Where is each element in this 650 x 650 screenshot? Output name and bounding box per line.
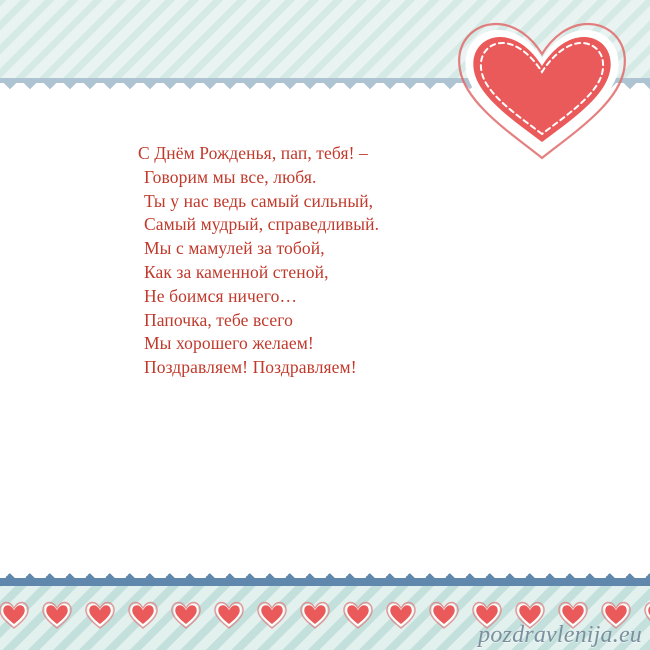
poem-line: Мы с мамулей за тобой, (144, 237, 558, 261)
poem-line: Как за каменной стеной, (144, 261, 558, 285)
poem-line: Ты у нас ведь самый сильный, (144, 190, 558, 214)
heart-icon (85, 601, 115, 629)
bottom-zigzag-edge (0, 568, 650, 578)
heart-icon (429, 601, 459, 629)
heart-icon (42, 601, 72, 629)
heart-icon (214, 601, 244, 629)
poem-line: С Днём Рожденья, пап, тебя! – (138, 142, 558, 166)
heart-icon (257, 601, 287, 629)
poem-line: Поздравляем! Поздравляем! (144, 356, 558, 380)
heart-icon (343, 601, 373, 629)
poem-line: Не боимся ничего… (144, 285, 558, 309)
poem-line: Говорим мы все, любя. (144, 166, 558, 190)
watermark: pozdravlenija.eu (478, 622, 642, 649)
heart-icon (300, 601, 330, 629)
poem-line: Самый мудрый, справедливый. (144, 213, 558, 237)
poem-line: Мы хорошего желаем! (144, 332, 558, 356)
heart-icon (644, 601, 650, 629)
heart-icon (386, 601, 416, 629)
heart-icon (0, 601, 29, 629)
heart-icon (171, 601, 201, 629)
poem-line: Папочка, тебе всего (144, 309, 558, 333)
poem-text: С Днём Рожденья, пап, тебя! – Говорим мы… (138, 142, 558, 380)
heart-icon (128, 601, 158, 629)
greeting-card: С Днём Рожденья, пап, тебя! – Говорим мы… (0, 0, 650, 650)
